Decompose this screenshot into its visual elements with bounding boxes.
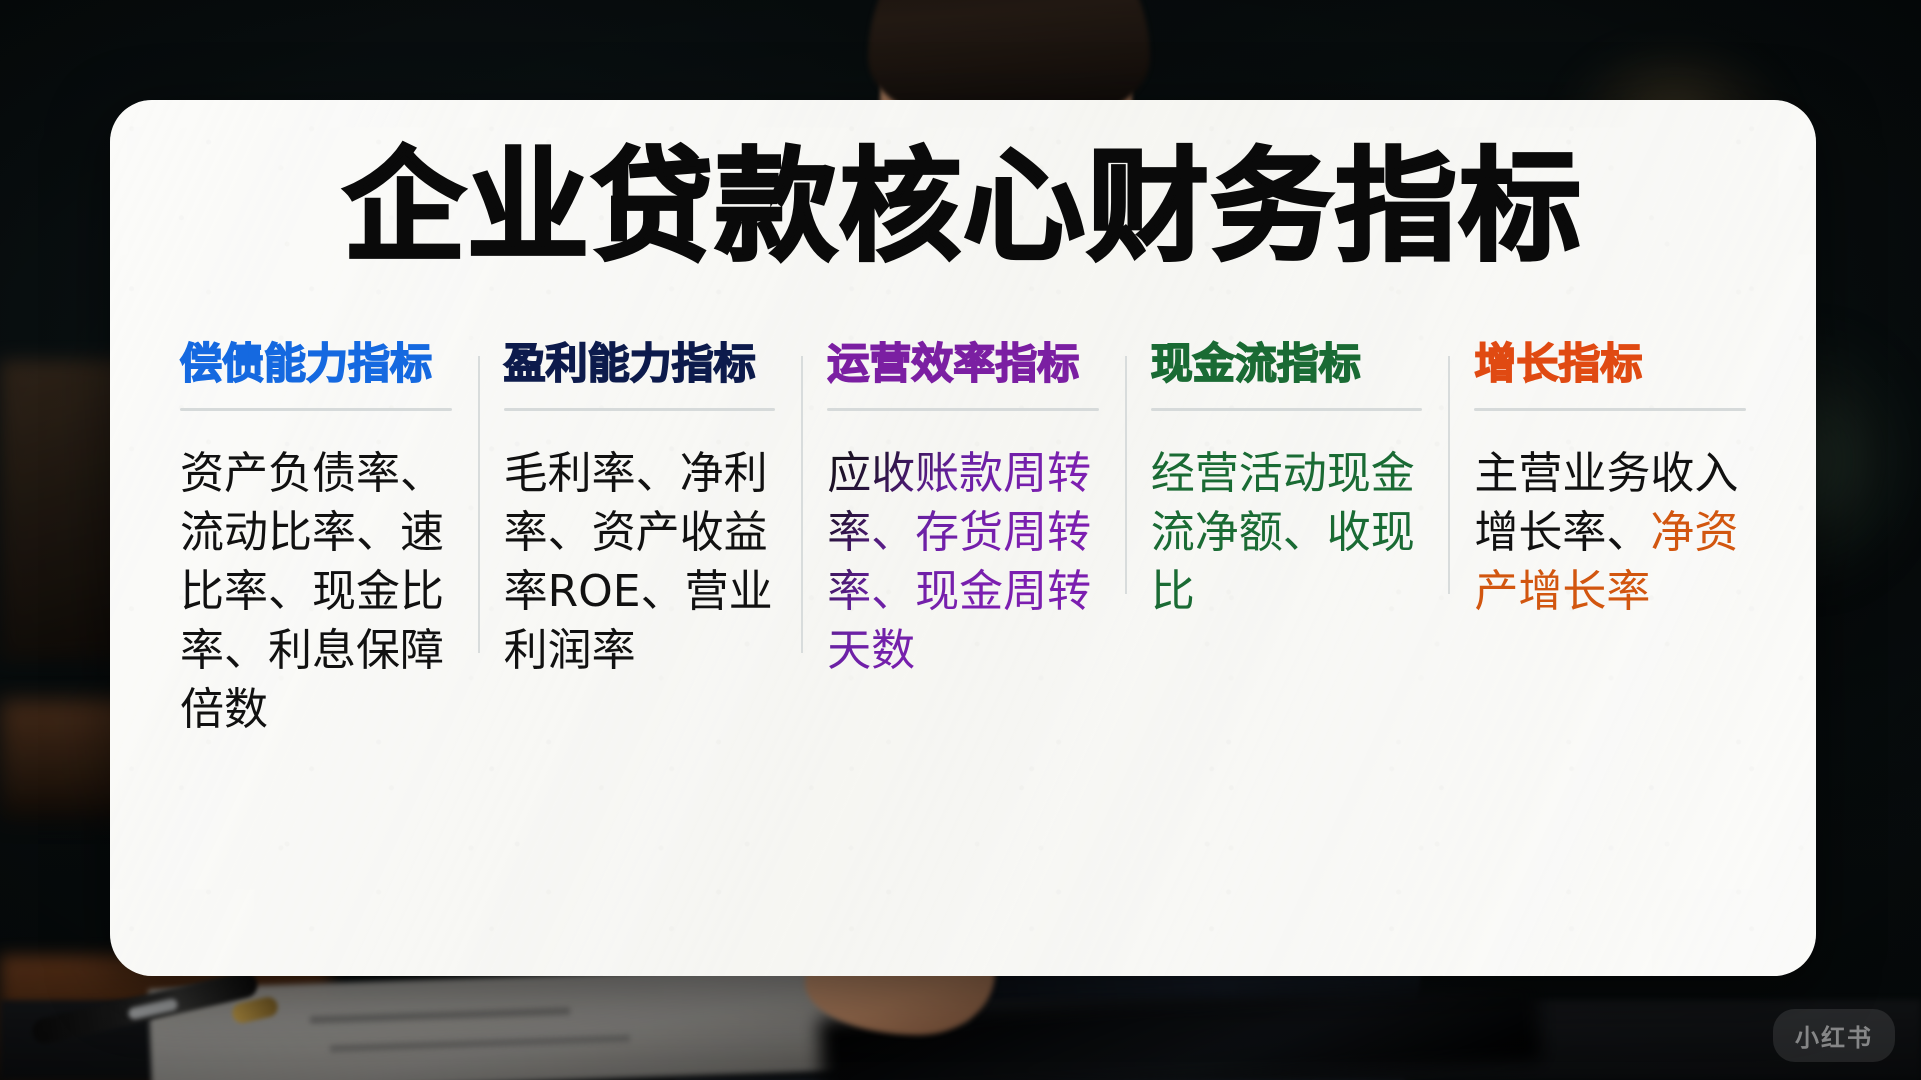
- column-header-cashflow: 现金流指标: [1151, 340, 1423, 388]
- indicator-column-solvency: 偿债能力指标 资产负债率、流动比率、速比率、现金比率、利息保障倍数: [154, 340, 478, 740]
- column-header-profitability: 盈利能力指标: [504, 340, 776, 388]
- indicator-column-profitability: 盈利能力指标 毛利率、净利率、资产收益率ROE、营业利润率: [478, 340, 802, 681]
- column-divider-rule: [504, 408, 776, 411]
- column-body-efficiency: 应收账款周转率、存货周转率、现金周转天数: [827, 445, 1099, 681]
- column-divider-rule: [827, 408, 1099, 411]
- column-header-solvency: 偿债能力指标: [180, 340, 452, 388]
- column-divider-rule: [180, 408, 452, 411]
- column-header-growth: 增长指标: [1474, 340, 1746, 388]
- column-divider-rule: [1474, 408, 1746, 411]
- column-header-efficiency: 运营效率指标: [827, 340, 1099, 388]
- indicator-columns: 偿债能力指标 资产负债率、流动比率、速比率、现金比率、利息保障倍数 盈利能力指标…: [154, 340, 1772, 928]
- indicator-column-cashflow: 现金流指标 经营活动现金流净额、收现比: [1125, 340, 1449, 622]
- content-card: 企业贷款核心财务指标 偿债能力指标 资产负债率、流动比率、速比率、现金比率、利息…: [110, 100, 1816, 976]
- column-divider-rule: [1151, 408, 1423, 411]
- watermark-badge: 小红书: [1773, 1009, 1895, 1062]
- column-body-growth: 主营业务收入增长率、净资产增长率: [1474, 445, 1746, 622]
- column-body-profitability: 毛利率、净利率、资产收益率ROE、营业利润率: [504, 445, 776, 681]
- column-body-cashflow: 经营活动现金流净额、收现比: [1151, 445, 1423, 622]
- page-title: 企业贷款核心财务指标: [110, 142, 1816, 274]
- column-body-solvency: 资产负债率、流动比率、速比率、现金比率、利息保障倍数: [180, 445, 452, 740]
- indicator-column-growth: 增长指标 主营业务收入增长率、净资产增长率: [1448, 340, 1772, 622]
- indicator-column-efficiency: 运营效率指标 应收账款周转率、存货周转率、现金周转天数: [801, 340, 1125, 681]
